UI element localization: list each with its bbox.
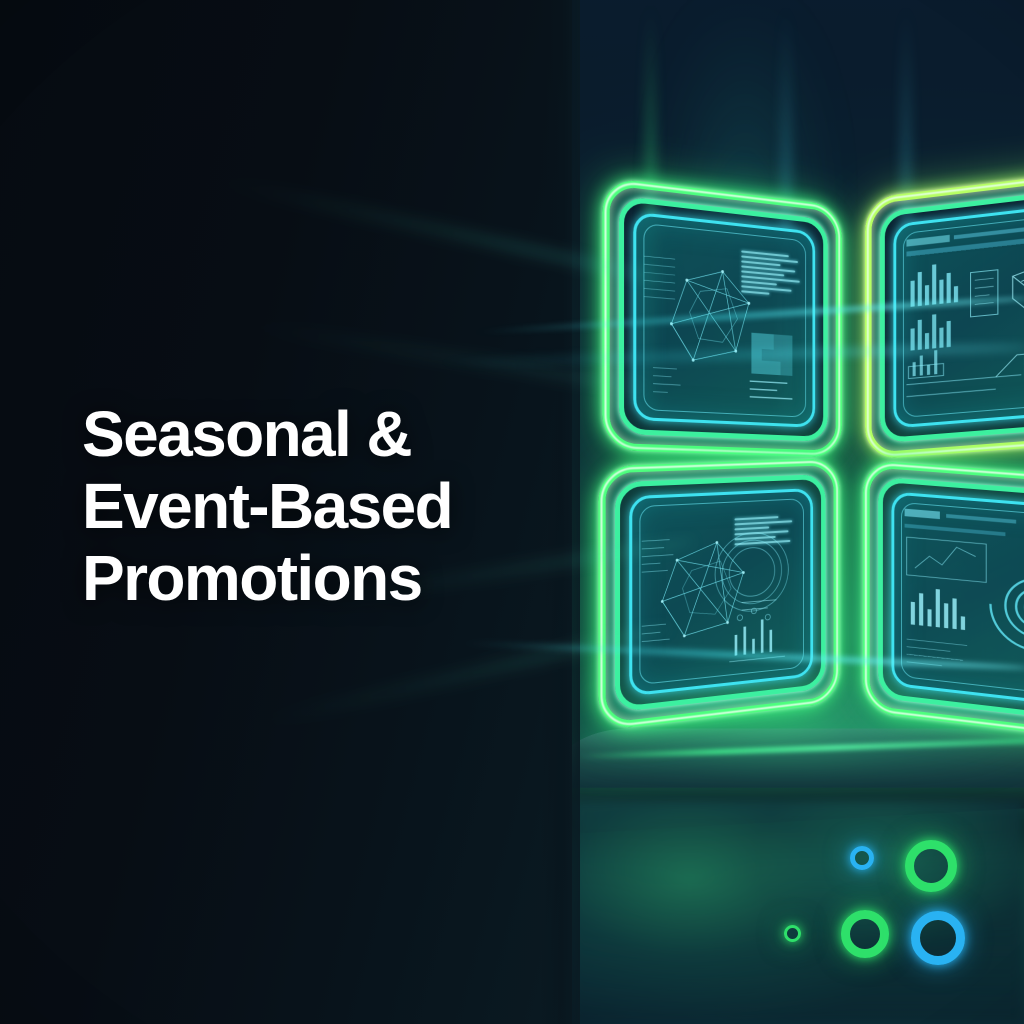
headline-line-2: Event-Based <box>82 470 552 542</box>
headline-line-1: Seasonal & <box>82 398 552 470</box>
panel-bottom-right <box>863 460 1024 745</box>
hologram-cube <box>560 170 1024 740</box>
promo-graphic: Seasonal & Event-Based Promotions <box>0 0 1024 1024</box>
panel-top-left-neon-highlight <box>604 179 840 456</box>
ring-medium-green-icon <box>841 910 889 958</box>
panel-bottom-left-neon-highlight <box>600 460 838 729</box>
panel-bottom-left <box>598 458 839 731</box>
ring-small-green-icon <box>784 925 801 942</box>
panel-top-right <box>865 165 1024 460</box>
page-title: Seasonal & Event-Based Promotions <box>82 398 552 614</box>
panel-bottom-right-neon-highlight <box>865 462 1024 743</box>
floor-reflection <box>572 800 1024 1024</box>
headline-line-3: Promotions <box>82 542 552 614</box>
panel-top-right-neon-highlight <box>867 167 1024 458</box>
panel-top-left <box>602 177 841 458</box>
ring-small-blue-icon <box>850 846 874 870</box>
ring-large-green-icon <box>905 840 957 892</box>
ring-large-blue-icon <box>911 911 965 965</box>
